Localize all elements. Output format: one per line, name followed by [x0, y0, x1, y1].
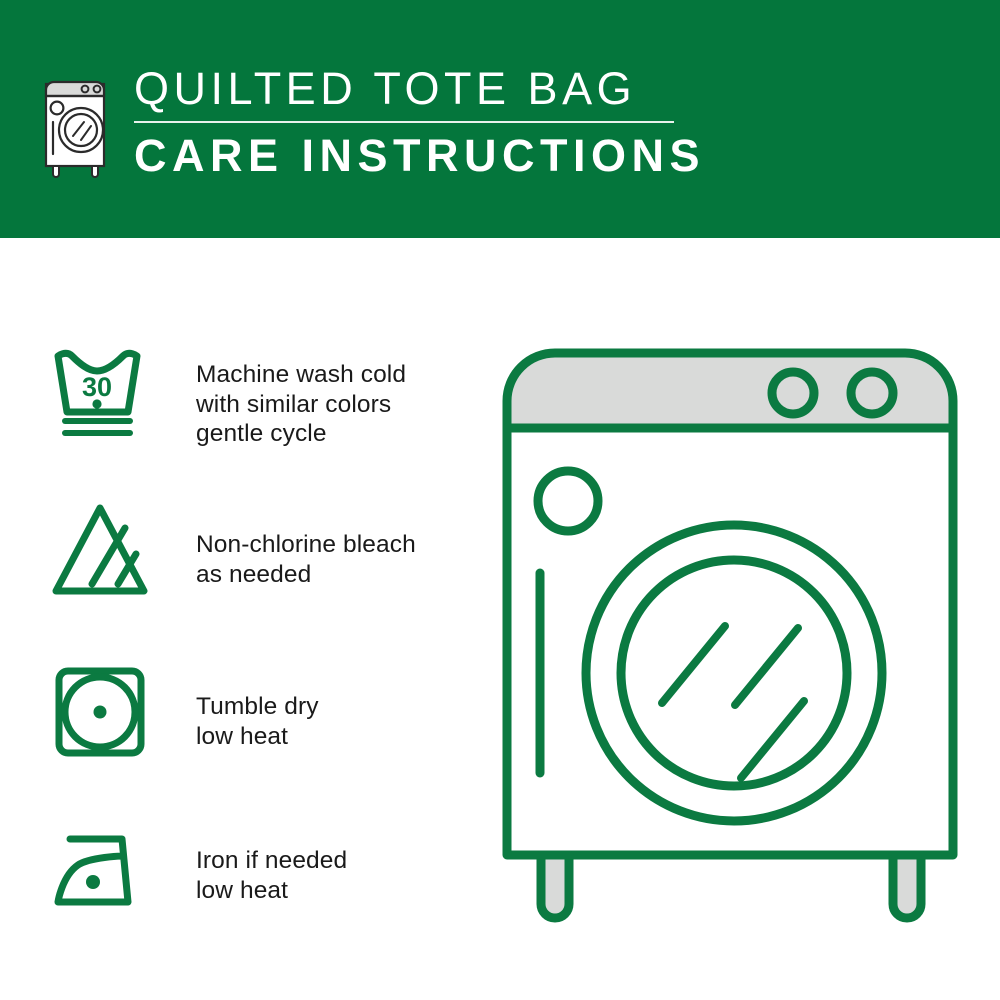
care-line: Machine wash cold: [196, 360, 406, 390]
care-line: low heat: [196, 722, 319, 752]
care-line: Non-chlorine bleach: [196, 530, 416, 560]
care-line: Iron if needed: [196, 846, 347, 876]
header-content: QUILTED TOTE BAG CARE INSTRUCTIONS: [40, 62, 705, 182]
care-line: as needed: [196, 560, 416, 590]
care-item-bleach-text: Non-chlorine bleach as needed: [196, 498, 416, 589]
care-item-wash-text: Machine wash cold with similar colors ge…: [196, 338, 406, 449]
care-line: gentle cycle: [196, 419, 406, 449]
tumble-dry-icon: [48, 658, 160, 768]
washing-machine-illustration: [495, 333, 965, 933]
washing-machine-icon: [40, 66, 112, 178]
care-item-iron-text: Iron if needed low heat: [196, 818, 347, 905]
care-item-wash: 30 Machine wash cold with similar colors…: [48, 338, 468, 498]
triangle-bleach-icon: [48, 498, 160, 608]
body-area: 30 Machine wash cold with similar colors…: [0, 238, 1000, 1000]
title-divider: [134, 121, 674, 123]
care-item-tumble-dry: Tumble dry low heat: [48, 658, 468, 818]
foot-left: [541, 855, 569, 918]
foot-right: [893, 855, 921, 918]
care-item-bleach: Non-chlorine bleach as needed: [48, 498, 468, 658]
page-title: QUILTED TOTE BAG CARE INSTRUCTIONS: [134, 62, 705, 182]
care-item-tumble-dry-text: Tumble dry low heat: [196, 658, 319, 751]
care-line: Tumble dry: [196, 692, 319, 722]
wash-temperature-label: 30: [82, 372, 112, 402]
care-instruction-list: 30 Machine wash cold with similar colors…: [48, 338, 468, 978]
title-primary: QUILTED TOTE BAG: [134, 62, 705, 116]
washer-body: [507, 428, 953, 855]
header-band: QUILTED TOTE BAG CARE INSTRUCTIONS: [0, 0, 1000, 238]
title-secondary: CARE INSTRUCTIONS: [134, 130, 705, 182]
iron-icon: [48, 818, 160, 928]
care-line: low heat: [196, 876, 347, 906]
care-line: with similar colors: [196, 390, 406, 420]
wash-tub-30-icon: 30: [48, 338, 160, 448]
care-item-iron: Iron if needed low heat: [48, 818, 468, 978]
